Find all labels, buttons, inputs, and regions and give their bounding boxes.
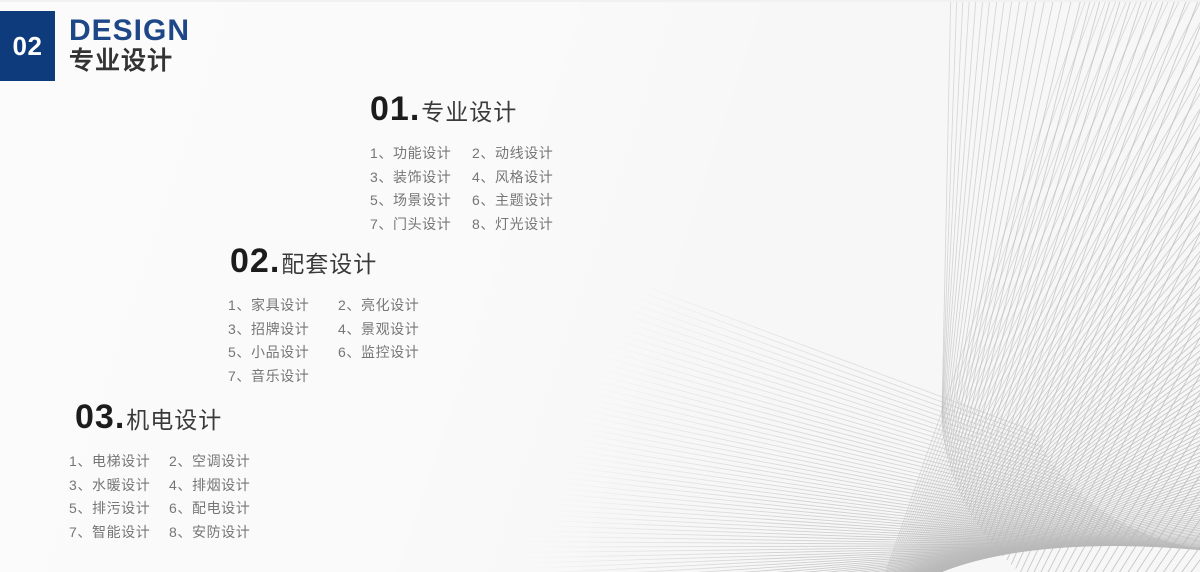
section-item-list-03: 1、电梯设计 2、空调设计 3、水暖设计 4、排烟设计 5、排污设计 6、配电设… bbox=[69, 450, 250, 544]
list-item: 3、招牌设计 bbox=[228, 318, 328, 342]
list-row: 5、小品设计 6、监控设计 bbox=[228, 341, 419, 365]
list-row: 1、电梯设计 2、空调设计 bbox=[69, 450, 250, 474]
list-item: 7、门头设计 bbox=[370, 213, 462, 237]
list-item: 8、安防设计 bbox=[169, 521, 250, 545]
list-item: 7、智能设计 bbox=[69, 521, 159, 545]
section-number-02: 02. bbox=[230, 244, 280, 278]
list-item: 1、家具设计 bbox=[228, 294, 328, 318]
list-row: 3、水暖设计 4、排烟设计 bbox=[69, 474, 250, 498]
header-title-group: DESIGN 专业设计 bbox=[69, 11, 190, 81]
list-row: 1、家具设计 2、亮化设计 bbox=[228, 294, 419, 318]
list-item: 8、灯光设计 bbox=[472, 213, 553, 237]
section-name-01: 专业设计 bbox=[421, 101, 517, 124]
list-item: 3、水暖设计 bbox=[69, 474, 159, 498]
list-row: 5、排污设计 6、配电设计 bbox=[69, 497, 250, 521]
page-title-cn: 专业设计 bbox=[69, 47, 190, 76]
section-item-list-02: 1、家具设计 2、亮化设计 3、招牌设计 4、景观设计 5、小品设计 6、监控设… bbox=[228, 294, 419, 388]
list-item: 4、景观设计 bbox=[338, 318, 419, 342]
slide-canvas: 02 DESIGN 专业设计 01. 专业设计 1、功能设计 2、动线设计 3、… bbox=[0, 0, 1200, 572]
section-block-03: 03. 机电设计 1、电梯设计 2、空调设计 3、水暖设计 4、排烟设计 5、排… bbox=[75, 400, 256, 544]
list-item: 1、功能设计 bbox=[370, 142, 462, 166]
section-block-02: 02. 配套设计 1、家具设计 2、亮化设计 3、招牌设计 4、景观设计 5、小… bbox=[230, 244, 421, 388]
slide-header: 02 DESIGN 专业设计 bbox=[0, 11, 190, 81]
list-row: 7、智能设计 8、安防设计 bbox=[69, 521, 250, 545]
section-block-01: 01. 专业设计 1、功能设计 2、动线设计 3、装饰设计 4、风格设计 5、场… bbox=[370, 92, 553, 236]
section-name-02: 配套设计 bbox=[281, 253, 377, 276]
list-item: 2、空调设计 bbox=[169, 450, 250, 474]
section-number-01: 01. bbox=[370, 92, 420, 126]
list-item: 6、配电设计 bbox=[169, 497, 250, 521]
list-item: 3、装饰设计 bbox=[370, 166, 462, 190]
list-item: 5、排污设计 bbox=[69, 497, 159, 521]
list-row: 7、音乐设计 bbox=[228, 365, 419, 389]
page-title-en: DESIGN bbox=[69, 16, 190, 47]
list-item: 2、亮化设计 bbox=[338, 294, 419, 318]
list-row: 3、招牌设计 4、景观设计 bbox=[228, 318, 419, 342]
list-row: 5、场景设计 6、主题设计 bbox=[370, 189, 553, 213]
list-item: 7、音乐设计 bbox=[228, 365, 328, 389]
list-item: 1、电梯设计 bbox=[69, 450, 159, 474]
list-item: 5、场景设计 bbox=[370, 189, 462, 213]
list-item: 5、小品设计 bbox=[228, 341, 328, 365]
list-row: 1、功能设计 2、动线设计 bbox=[370, 142, 553, 166]
top-hairline bbox=[0, 0, 1200, 2]
list-row: 3、装饰设计 4、风格设计 bbox=[370, 166, 553, 190]
section-number-03: 03. bbox=[75, 400, 125, 434]
list-row: 7、门头设计 8、灯光设计 bbox=[370, 213, 553, 237]
section-name-03: 机电设计 bbox=[126, 409, 222, 432]
section-heading-03: 03. 机电设计 bbox=[75, 400, 256, 434]
section-heading-01: 01. 专业设计 bbox=[370, 92, 553, 126]
list-item: 6、监控设计 bbox=[338, 341, 419, 365]
list-item: 4、风格设计 bbox=[472, 166, 553, 190]
section-item-list-01: 1、功能设计 2、动线设计 3、装饰设计 4、风格设计 5、场景设计 6、主题设… bbox=[370, 142, 553, 236]
list-item: 6、主题设计 bbox=[472, 189, 553, 213]
list-item: 2、动线设计 bbox=[472, 142, 553, 166]
list-item: 4、排烟设计 bbox=[169, 474, 250, 498]
section-heading-02: 02. 配套设计 bbox=[230, 244, 421, 278]
section-number-badge: 02 bbox=[0, 11, 55, 81]
